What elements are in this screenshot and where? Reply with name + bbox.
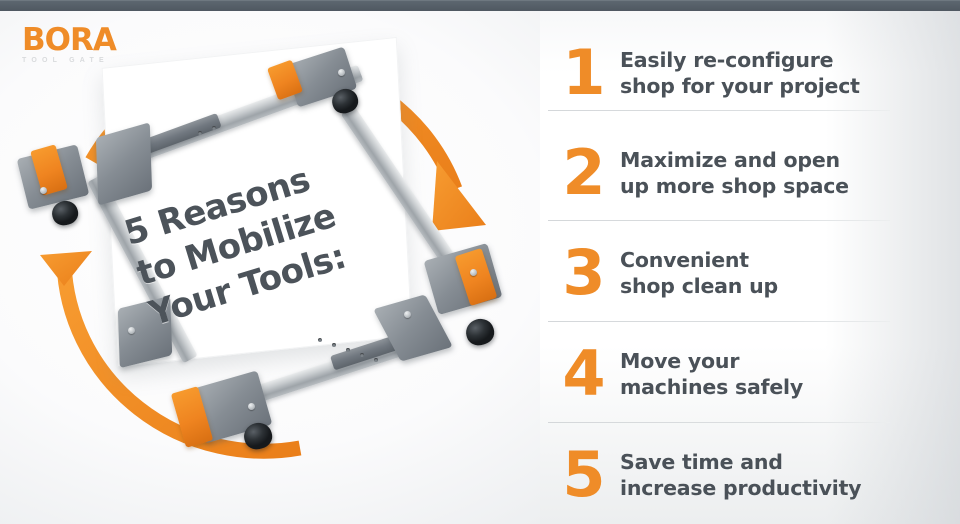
infographic-canvas: BORA TOOL GATE xyxy=(0,0,960,524)
list-item: 5 Save time and increase productivity xyxy=(540,425,960,524)
reason-number: 3 xyxy=(548,242,620,304)
reason-line-2: up more shop space xyxy=(620,173,936,199)
reasons-list: 1 Easily re-configure shop for your proj… xyxy=(540,11,960,524)
reason-text: Move your machines safely xyxy=(620,348,960,400)
bolt xyxy=(470,269,477,276)
reason-text: Easily re-configure shop for your projec… xyxy=(620,47,960,99)
reason-line-2: increase productivity xyxy=(620,475,936,501)
bolt xyxy=(248,403,255,410)
list-divider xyxy=(548,321,890,322)
bolt xyxy=(338,69,345,76)
reason-line-1: Easily re-configure xyxy=(620,48,833,72)
reason-text: Convenient shop clean up xyxy=(620,247,960,299)
reason-text: Maximize and open up more shop space xyxy=(620,147,960,199)
product-photo-panel: BORA TOOL GATE xyxy=(0,11,540,524)
bolt xyxy=(128,327,135,334)
reason-line-2: machines safely xyxy=(620,374,936,400)
reason-line-2: shop clean up xyxy=(620,273,936,299)
list-item: 3 Convenient shop clean up xyxy=(540,223,960,323)
reason-text: Save time and increase productivity xyxy=(620,449,960,501)
list-divider xyxy=(548,220,890,221)
reason-line-1: Maximize and open xyxy=(620,148,840,172)
list-item: 2 Maximize and open up more shop space xyxy=(540,123,960,223)
reason-line-1: Save time and xyxy=(620,450,783,474)
bolt xyxy=(40,187,47,194)
reason-number: 2 xyxy=(548,142,620,204)
bolt xyxy=(404,311,411,318)
list-item: 4 Move your machines safely xyxy=(540,324,960,424)
list-divider xyxy=(548,110,890,111)
reason-line-2: shop for your project xyxy=(620,73,936,99)
reason-line-1: Move your xyxy=(620,349,739,373)
list-item: 1 Easily re-configure shop for your proj… xyxy=(540,23,960,123)
caster-wheel-right xyxy=(463,316,497,349)
list-divider xyxy=(548,422,890,423)
reason-number: 5 xyxy=(548,444,620,506)
top-bar xyxy=(0,0,960,11)
reason-line-1: Convenient xyxy=(620,248,749,272)
reason-number: 1 xyxy=(548,42,620,104)
reason-number: 4 xyxy=(548,343,620,405)
